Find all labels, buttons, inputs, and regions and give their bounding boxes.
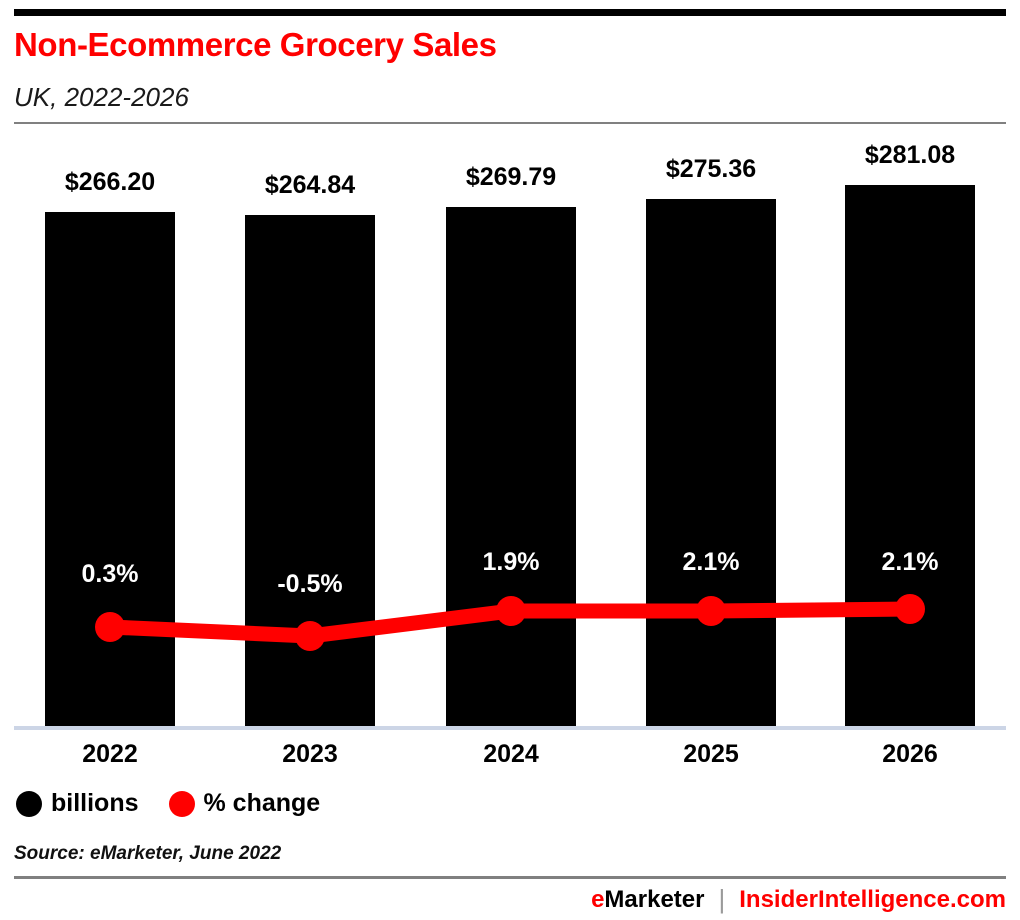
chart-page: Non-Ecommerce Grocery Sales UK, 2022-202… [0, 0, 1020, 920]
legend-item-pct-change[interactable]: % change [169, 789, 321, 818]
chart-legend: billions % change [16, 789, 320, 818]
x-tick-2023: 2023 [245, 740, 375, 769]
pct-change-label: 1.9% [446, 548, 576, 577]
pct-change-label: 2.1% [646, 548, 776, 577]
bar-value-label: $275.36 [646, 155, 776, 184]
bar-value-label: $281.08 [845, 141, 975, 170]
legend-item-billions[interactable]: billions [16, 789, 139, 818]
pct-change-label: 2.1% [845, 548, 975, 577]
bar-2026[interactable] [845, 185, 975, 726]
plot-area: $266.20 $264.84 $269.79 $275.36 $281.08 … [0, 0, 1020, 920]
legend-swatch-circle-icon [169, 791, 195, 817]
brand-footer: eMarketer | InsiderIntelligence.com [591, 884, 1006, 915]
footer-rule [14, 876, 1006, 879]
brand-e-letter: e [591, 886, 604, 913]
pct-change-label: -0.5% [245, 570, 375, 599]
x-tick-2026: 2026 [845, 740, 975, 769]
brand-marketer-word: Marketer [604, 886, 704, 913]
x-tick-2024: 2024 [446, 740, 576, 769]
x-tick-2022: 2022 [45, 740, 175, 769]
bar-2025[interactable] [646, 199, 776, 726]
source-note: Source: eMarketer, June 2022 [14, 843, 281, 865]
x-tick-2025: 2025 [646, 740, 776, 769]
legend-label: billions [51, 789, 139, 818]
bar-value-label: $269.79 [446, 163, 576, 192]
legend-label: % change [204, 789, 321, 818]
brand-url[interactable]: InsiderIntelligence.com [739, 886, 1006, 914]
x-axis-line [14, 726, 1006, 730]
bar-2023[interactable] [245, 215, 375, 726]
bar-value-label: $266.20 [45, 168, 175, 197]
pct-change-label: 0.3% [45, 560, 175, 589]
bar-value-label: $264.84 [245, 171, 375, 200]
brand-emarketer[interactable]: eMarketer [591, 886, 704, 914]
bar-2022[interactable] [45, 212, 175, 726]
legend-swatch-circle-icon [16, 791, 42, 817]
bar-2024[interactable] [446, 207, 576, 726]
brand-separator: | [718, 884, 725, 915]
